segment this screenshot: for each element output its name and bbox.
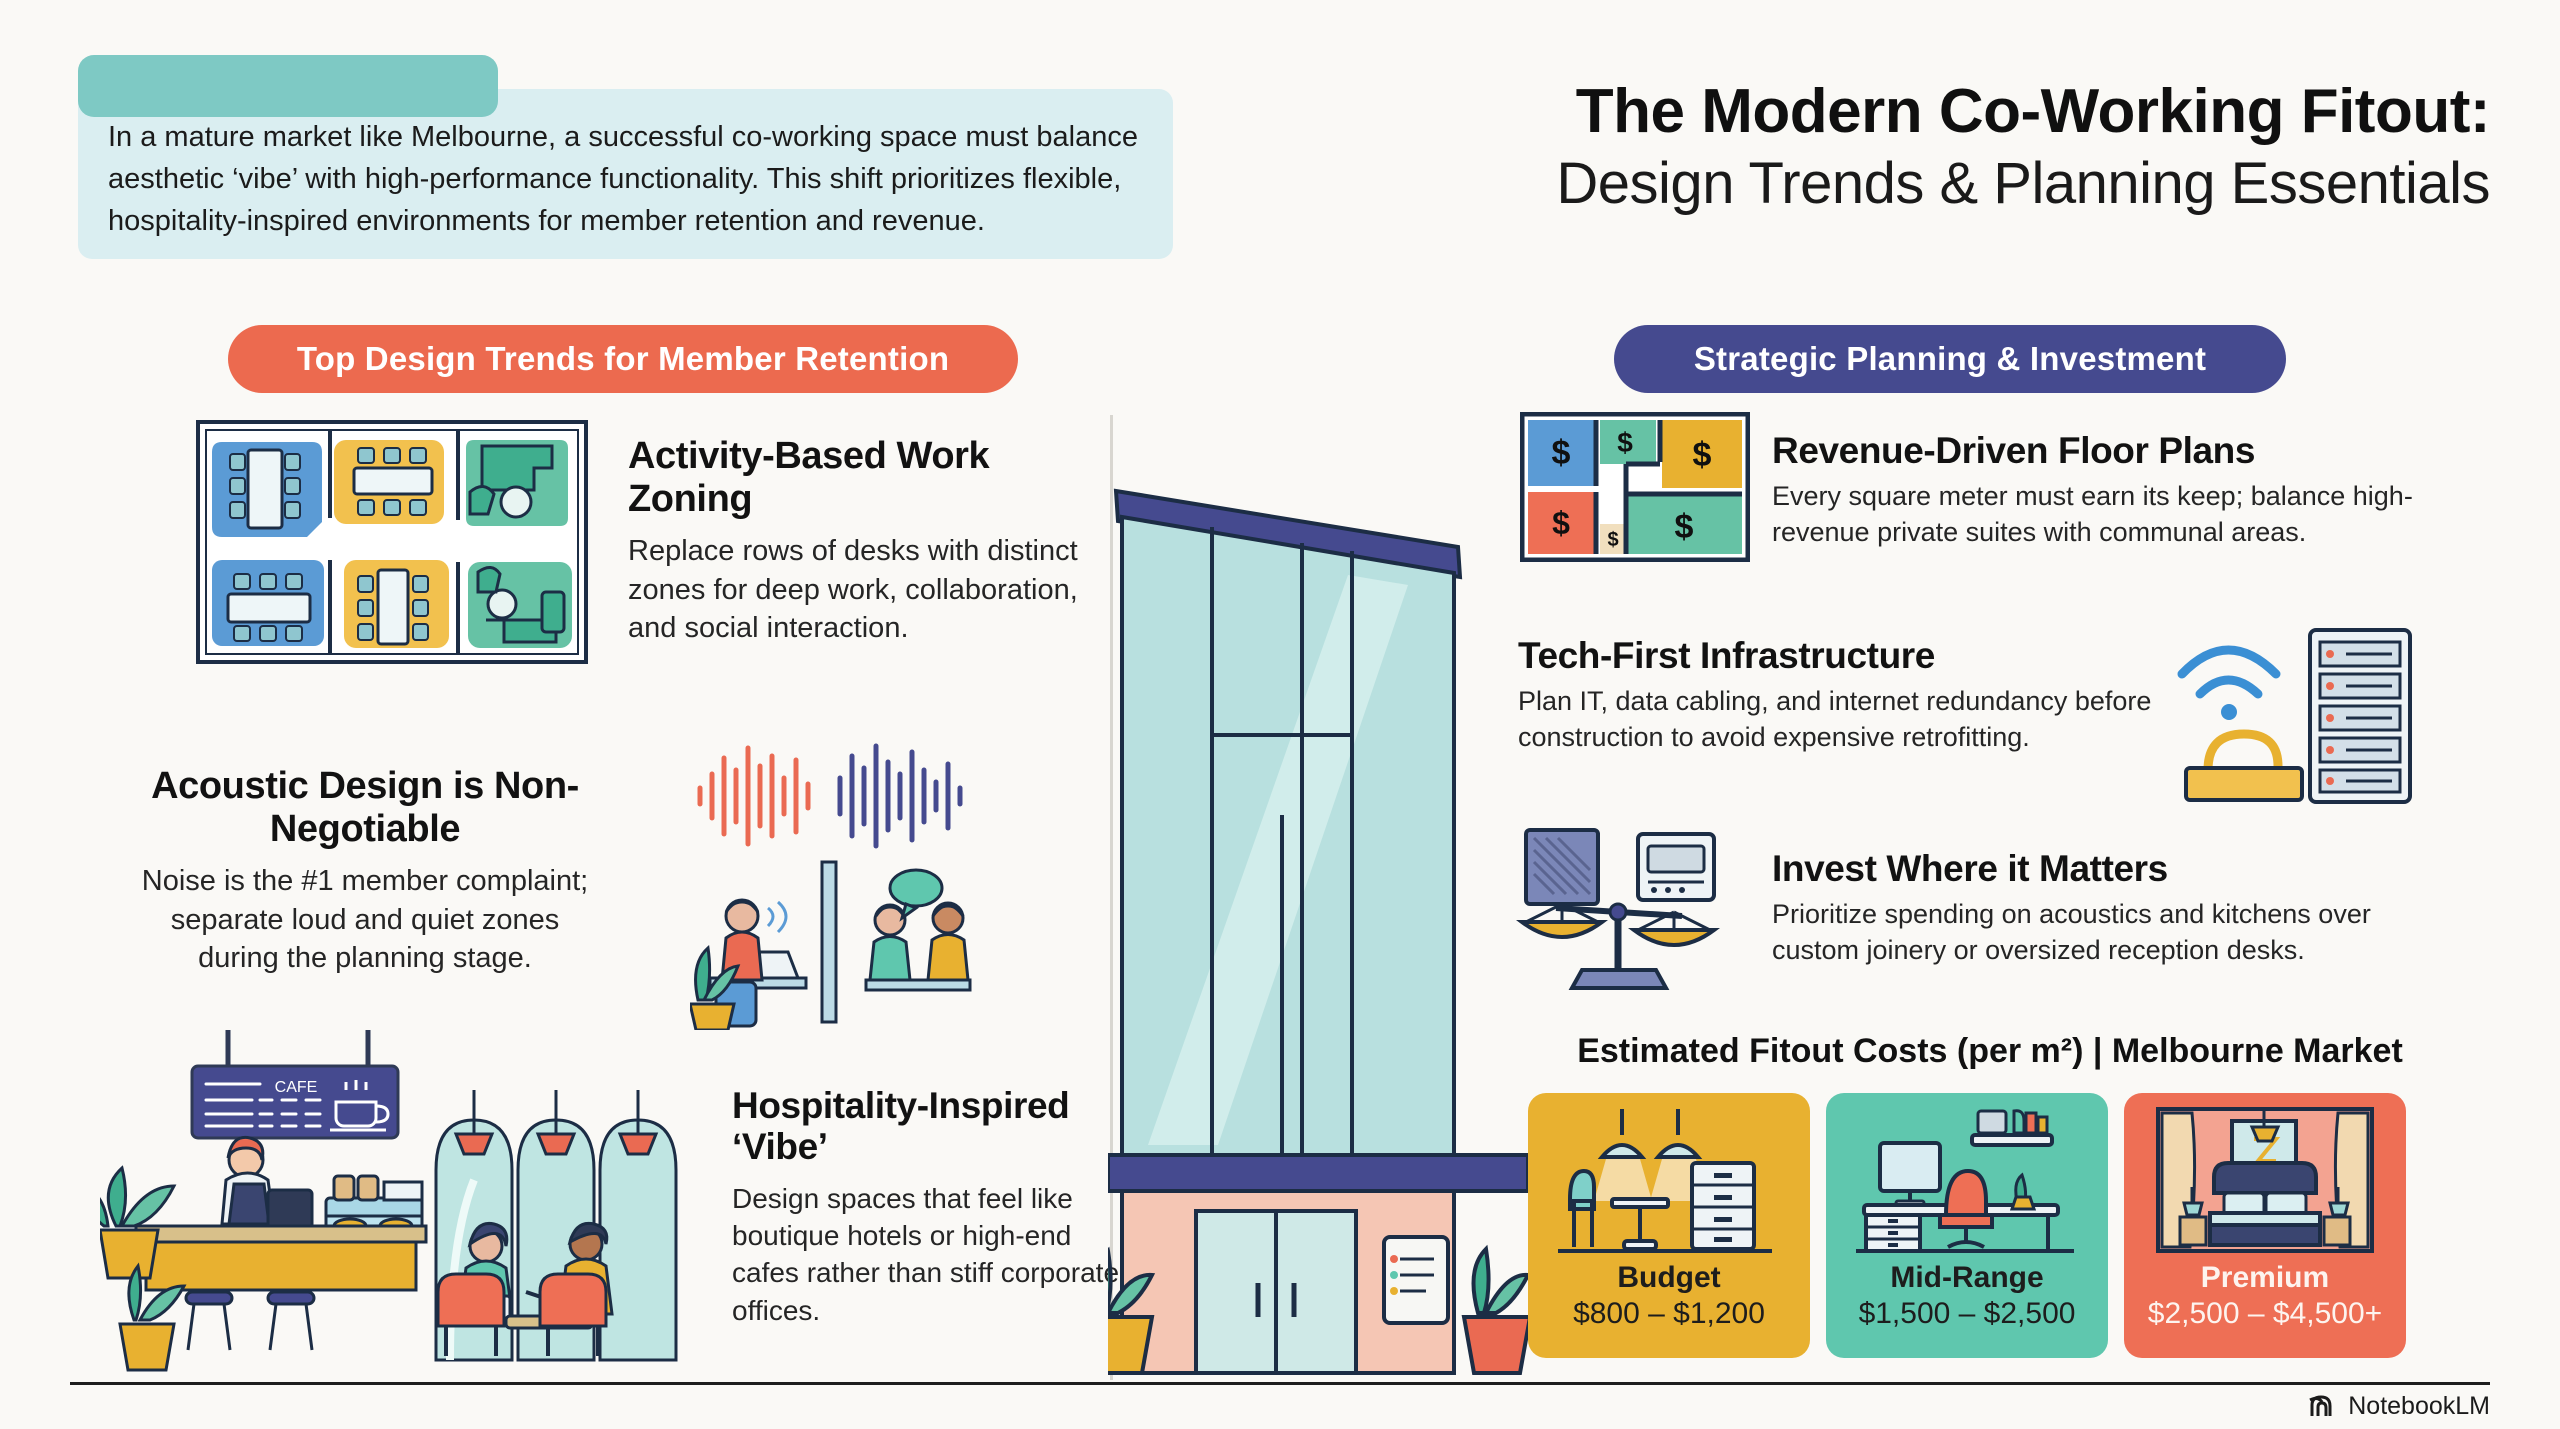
svg-text:$: $ [1693,436,1712,474]
cost-card-mid-range-label: Mid-Range [1890,1261,2043,1295]
left-item-2: Acoustic Design is Non-Negotiable Noise … [130,765,600,978]
left-item-1-body: Replace rows of desks with distinct zone… [628,532,1098,648]
footer: NotebookLM [2308,1392,2490,1421]
title-line-1: The Modern Co-Working Fitout: [1240,78,2490,146]
svg-text:$: $ [1552,505,1570,541]
right-item-1-body: Every square meter must earn its keep; b… [1772,479,2432,551]
left-item-3: Hospitality-Inspired ‘Vibe’ Design space… [732,1085,1132,1329]
right-item-2-body: Plan IT, data cabling, and internet redu… [1518,684,2168,756]
hotel-bedroom-icon [2140,1105,2390,1255]
cost-card-mid-range-value: $1,500 – $2,500 [1859,1297,2076,1331]
page-title: The Modern Co-Working Fitout: Design Tre… [1240,78,2490,219]
desk-monitor-chair-icon [1842,1105,2092,1255]
notebooklm-logo-icon [2308,1394,2338,1420]
svg-text:$: $ [1607,529,1618,551]
left-item-2-title: Acoustic Design is Non-Negotiable [130,765,600,850]
wifi-server-rack-icon [2170,620,2430,810]
svg-text:$: $ [1552,434,1571,472]
svg-text:$: $ [1617,427,1633,458]
right-item-3: Invest Where it Matters Prioritize spend… [1772,848,2432,969]
balance-scale-icon [1512,826,1752,996]
left-item-1-title: Activity-Based Work Zoning [628,435,1098,520]
right-item-1: Revenue-Driven Floor Plans Every square … [1772,430,2432,551]
left-item-3-title: Hospitality-Inspired ‘Vibe’ [732,1085,1132,1168]
soundwave-people-icon [690,730,1110,1030]
right-item-1-title: Revenue-Driven Floor Plans [1772,430,2432,471]
footer-divider [70,1382,2490,1385]
intro-panel: In a mature market like Melbourne, a suc… [78,55,1178,255]
cost-card-budget[interactable]: Budget $800 – $1,200 [1528,1093,1810,1358]
left-section-banner: Top Design Trends for Member Retention [228,325,1018,393]
cost-card-premium-label: Premium [2201,1261,2329,1295]
left-item-2-body: Noise is the #1 member complaint; separa… [130,862,600,978]
cost-card-premium-value: $2,500 – $4,500+ [2148,1297,2382,1331]
footer-brand: NotebookLM [2348,1392,2490,1421]
right-item-2: Tech-First Infrastructure Plan IT, data … [1518,635,2168,756]
dollar-floor-grid-icon: $ $ $ $ $ $ [1520,412,1750,562]
right-item-2-title: Tech-First Infrastructure [1518,635,2168,676]
cost-cards: Budget $800 – $1,200 [1528,1093,2428,1358]
right-item-3-title: Invest Where it Matters [1772,848,2432,889]
floor-plan-zones-icon [182,412,602,672]
cafe-table-lamps-icon [1544,1105,1794,1255]
glass-office-building-icon [1108,455,1528,1380]
cost-card-mid-range[interactable]: Mid-Range $1,500 – $2,500 [1826,1093,2108,1358]
cafe-sign-label: CAFE [275,1079,318,1096]
costs-title: Estimated Fitout Costs (per m²) | Melbou… [1560,1032,2420,1071]
cost-card-budget-label: Budget [1617,1261,1720,1295]
cafe-lounge-icon: CAFE [100,1030,720,1380]
left-item-3-body: Design spaces that feel like boutique ho… [732,1180,1132,1329]
intro-tab-decoration [78,55,498,117]
right-item-3-body: Prioritize spending on acoustics and kit… [1772,897,2432,969]
svg-text:$: $ [1675,508,1694,546]
right-section-banner: Strategic Planning & Investment [1614,325,2286,393]
cost-card-premium[interactable]: Premium $2,500 – $4,500+ [2124,1093,2406,1358]
left-item-1: Activity-Based Work Zoning Replace rows … [628,435,1098,648]
intro-text: In a mature market like Melbourne, a suc… [108,117,1138,242]
title-line-2: Design Trends & Planning Essentials [1240,150,2490,218]
cost-card-budget-value: $800 – $1,200 [1573,1297,1765,1331]
infographic-page: In a mature market like Melbourne, a suc… [0,0,2560,1429]
